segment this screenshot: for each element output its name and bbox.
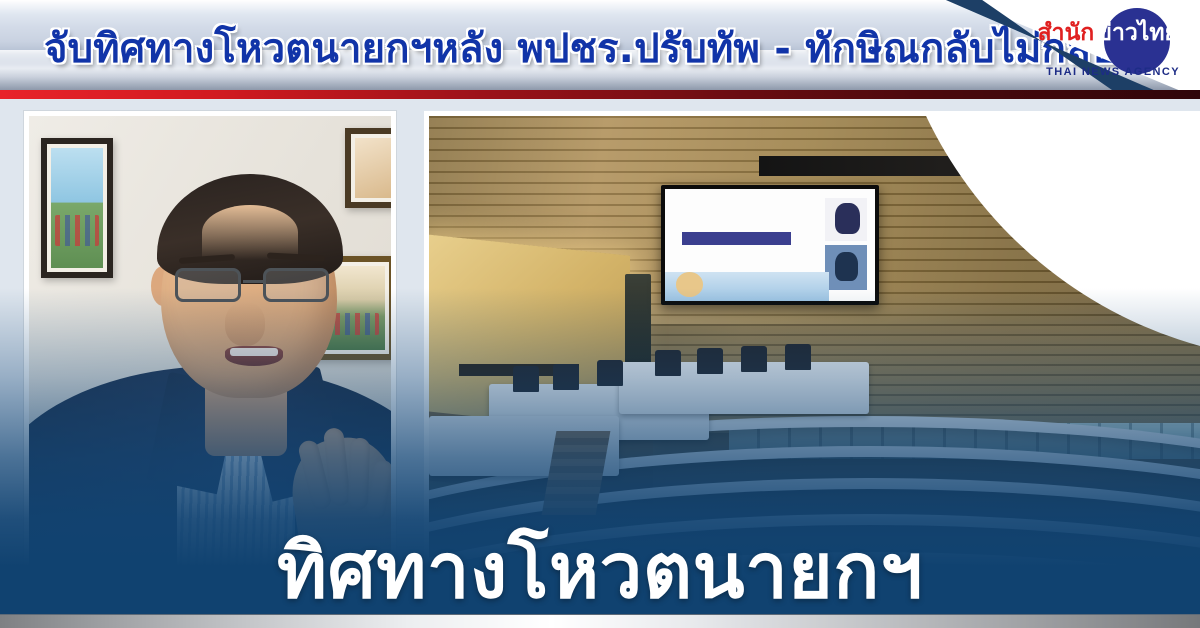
subject-glasses <box>171 268 335 302</box>
subject-mouth <box>225 346 283 366</box>
logo-text-samnak: สำนัก <box>1038 22 1095 45</box>
screen-speaker-figure-2 <box>835 252 858 281</box>
chair <box>597 360 623 386</box>
caption-text: ทิศทางโหวตนายกฯ <box>0 532 1200 614</box>
wall-frame <box>41 138 113 278</box>
frame-art-detail <box>55 215 99 246</box>
chair <box>697 348 723 374</box>
photo-area: ทิศทางโหวตนายกฯ <box>0 99 1200 628</box>
screen-content <box>665 189 875 301</box>
news-card: ทิศทางโหวตนายกฯ จับทิศทางโหวตนายกฯหลัง พ… <box>0 0 1200 628</box>
logo-thai-text: สำนัก ข่าวไทย <box>1024 22 1186 45</box>
chair <box>553 364 579 390</box>
logo-english-text: THAI NEWS AGENCY <box>1024 66 1180 78</box>
bottom-metal-strip <box>0 614 1200 628</box>
glasses-lens-left <box>175 268 241 302</box>
subject-nose <box>225 302 265 346</box>
headline-banner: จับทิศทางโหวตนายกฯหลัง พปชร.ปรับทัพ - ทั… <box>0 0 1200 99</box>
wall-frame <box>345 128 396 208</box>
chair <box>513 366 539 392</box>
screen-seal-icon <box>676 272 703 297</box>
chair <box>785 344 811 370</box>
glasses-lens-right <box>263 268 329 302</box>
headline-text: จับทิศทางโหวตนายกฯหลัง พปชร.ปรับทัพ - ทั… <box>44 16 1064 80</box>
frame-art <box>355 138 393 198</box>
frame-art <box>51 148 103 268</box>
chamber-projection-screen <box>661 185 879 305</box>
screen-title-bar <box>682 232 791 245</box>
thai-news-agency-logo: สำนัก ข่าวไทย THAI NEWS AGENCY <box>1024 6 1186 92</box>
screen-speaker-figure <box>835 203 860 234</box>
chamber-speaker-box <box>625 274 651 364</box>
logo-text-khaothai: ข่าวไทย <box>1096 22 1186 45</box>
subject-finger <box>348 438 371 511</box>
chair <box>741 346 767 372</box>
chair <box>655 350 681 376</box>
glasses-bridge <box>243 280 265 283</box>
banner-red-underline <box>0 90 1200 99</box>
